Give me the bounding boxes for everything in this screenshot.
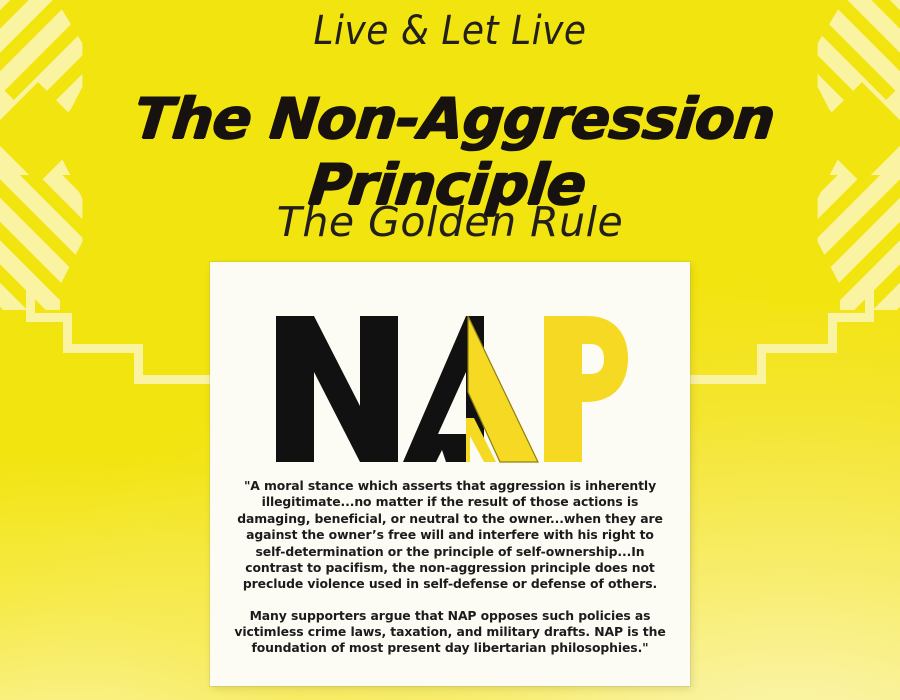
- logo-letter-n: [276, 316, 398, 462]
- logo-letter-p: [544, 316, 628, 462]
- stepped-rule-left-segment: [63, 344, 143, 353]
- subtitle-text: The Golden Rule: [0, 198, 900, 246]
- poster-canvas: Live & Let Live The Non-Aggression Princ…: [0, 0, 900, 700]
- kicker-text: Live & Let Live: [0, 8, 900, 54]
- nap-logo: [210, 314, 690, 464]
- quote-paragraph-1: "A moral stance which asserts that aggre…: [232, 478, 668, 593]
- quote-block: "A moral stance which asserts that aggre…: [232, 478, 668, 657]
- quote-paragraph-2: Many supporters argue that NAP opposes s…: [232, 608, 668, 657]
- nap-logo-graphic: [270, 314, 630, 464]
- content-card: "A moral stance which asserts that aggre…: [210, 262, 690, 686]
- stepped-rule-right-segment: [757, 344, 837, 353]
- logo-letter-a: [403, 316, 538, 462]
